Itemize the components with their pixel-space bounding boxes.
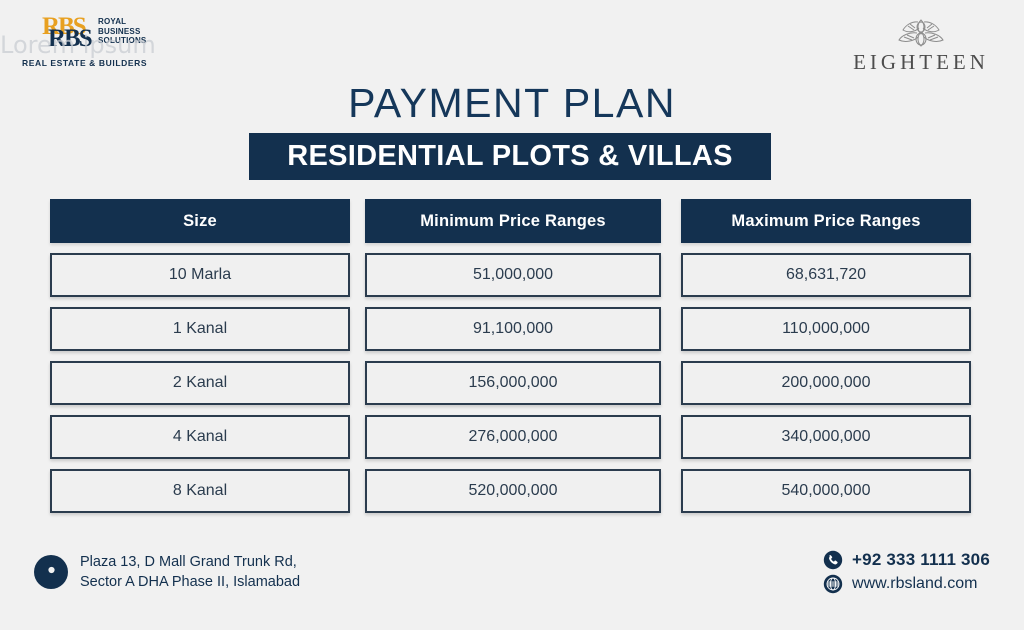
phone-row[interactable]: +92 333 1111 306 bbox=[823, 550, 990, 570]
cell-maximum: 340,000,000 bbox=[681, 415, 971, 459]
table-row: 10 Marla 51,000,000 68,631,720 bbox=[50, 253, 971, 297]
table-row: 1 Kanal 91,100,000 110,000,000 bbox=[50, 307, 971, 351]
location-pin-icon bbox=[34, 555, 68, 589]
globe-icon bbox=[823, 574, 843, 594]
cell-minimum: 91,100,000 bbox=[365, 307, 661, 351]
payment-plan-table: Size Minimum Price Ranges Maximum Price … bbox=[50, 199, 971, 523]
cell-size: 1 Kanal bbox=[50, 307, 350, 351]
cell-size: 10 Marla bbox=[50, 253, 350, 297]
phone-number: +92 333 1111 306 bbox=[852, 550, 990, 570]
cell-minimum: 156,000,000 bbox=[365, 361, 661, 405]
page-footer: Plaza 13, D Mall Grand Trunk Rd, Sector … bbox=[0, 540, 1024, 630]
page-title: PAYMENT PLAN bbox=[0, 80, 1024, 127]
contact-block: +92 333 1111 306 www.rbsland.com bbox=[823, 550, 990, 598]
cell-maximum: 200,000,000 bbox=[681, 361, 971, 405]
cell-size: 2 Kanal bbox=[50, 361, 350, 405]
cell-minimum: 51,000,000 bbox=[365, 253, 661, 297]
cell-size: 8 Kanal bbox=[50, 469, 350, 513]
table-row: 8 Kanal 520,000,000 540,000,000 bbox=[50, 469, 971, 513]
website-row[interactable]: www.rbsland.com bbox=[823, 574, 990, 594]
cell-maximum: 540,000,000 bbox=[681, 469, 971, 513]
eighteen-logo-name: EIGHTEEN bbox=[846, 52, 996, 73]
cell-minimum: 276,000,000 bbox=[365, 415, 661, 459]
cell-minimum: 520,000,000 bbox=[365, 469, 661, 513]
office-address-text: Plaza 13, D Mall Grand Trunk Rd, Sector … bbox=[80, 552, 300, 592]
page-subtitle-banner: RESIDENTIAL PLOTS & VILLAS bbox=[249, 133, 771, 180]
column-header-maximum: Maximum Price Ranges bbox=[681, 199, 971, 243]
page-subtitle: RESIDENTIAL PLOTS & VILLAS bbox=[287, 140, 733, 173]
rbs-logo-tagline: REAL ESTATE & BUILDERS bbox=[22, 58, 147, 68]
column-header-size: Size bbox=[50, 199, 350, 243]
cell-maximum: 68,631,720 bbox=[681, 253, 971, 297]
table-row: 2 Kanal 156,000,000 200,000,000 bbox=[50, 361, 971, 405]
website-url: www.rbsland.com bbox=[852, 575, 977, 593]
column-header-minimum: Minimum Price Ranges bbox=[365, 199, 661, 243]
watermark-text: Lorem ipsum bbox=[0, 31, 156, 59]
phone-icon bbox=[823, 550, 843, 570]
table-header-row: Size Minimum Price Ranges Maximum Price … bbox=[50, 199, 971, 243]
office-address-block: Plaza 13, D Mall Grand Trunk Rd, Sector … bbox=[34, 552, 300, 592]
table-row: 4 Kanal 276,000,000 340,000,000 bbox=[50, 415, 971, 459]
cell-size: 4 Kanal bbox=[50, 415, 350, 459]
eighteen-project-logo: EIGHTEEN bbox=[846, 16, 996, 73]
eighteen-crest-icon bbox=[888, 16, 954, 50]
page-header: RBS RBS ROYAL BUSINESS SOLUTIONS REAL ES… bbox=[0, 0, 1024, 88]
rbs-word-royal: ROYAL bbox=[98, 17, 146, 27]
cell-maximum: 110,000,000 bbox=[681, 307, 971, 351]
